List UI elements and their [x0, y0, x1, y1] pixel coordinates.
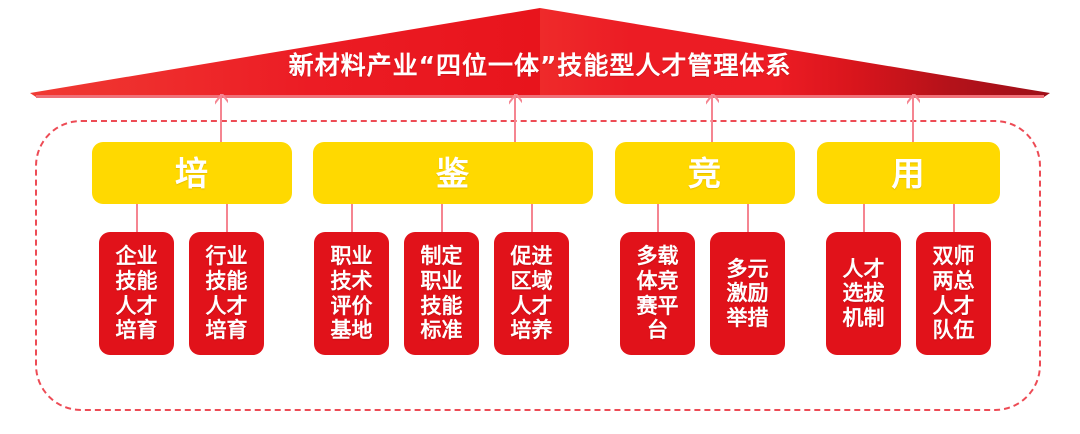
connector-line	[531, 204, 533, 232]
arrow-up-yong	[906, 94, 920, 142]
leaf-label: 企业 技能 人才 培育	[116, 244, 158, 342]
arrow-head-icon	[907, 94, 920, 105]
leaf-box-yong-1[interactable]: 人才 选拔 机制	[826, 232, 901, 355]
leaf-box-jian-3[interactable]: 促进 区域 人才 培养	[494, 232, 569, 355]
leaf-label: 促进 区域 人才 培养	[511, 244, 553, 342]
leaf-label: 行业 技能 人才 培育	[206, 244, 248, 342]
connector-line	[747, 204, 749, 232]
leaf-box-jing-1[interactable]: 多载 体竞 赛平 台	[620, 232, 695, 355]
leaf-box-jian-1[interactable]: 职业 技术 评价 基地	[314, 232, 389, 355]
leaf-label: 双师 两总 人才 队伍	[933, 244, 975, 342]
leaf-box-pei-2[interactable]: 行业 技能 人才 培育	[189, 232, 264, 355]
arrow-up-pei	[214, 94, 228, 142]
connector-line	[136, 204, 138, 232]
leaf-box-jing-2[interactable]: 多元 激励 举措	[710, 232, 785, 355]
diagram-canvas: 新材料产业“四位一体”技能型人才管理体系 培企业 技能 人才 培育行业 技能 人…	[0, 0, 1080, 434]
pillar-box-jing[interactable]: 竞	[615, 142, 795, 204]
leaf-box-jian-2[interactable]: 制定 职业 技能 标准	[404, 232, 479, 355]
leaf-label: 多载 体竞 赛平 台	[637, 244, 679, 342]
leaf-label: 制定 职业 技能 标准	[421, 244, 463, 342]
connector-line	[657, 204, 659, 232]
leaf-label: 职业 技术 评价 基地	[331, 244, 373, 342]
connector-line	[351, 204, 353, 232]
pillar-box-yong[interactable]: 用	[817, 142, 1000, 204]
pillar-label: 竞	[688, 157, 722, 190]
leaf-box-pei-1[interactable]: 企业 技能 人才 培育	[99, 232, 174, 355]
pillar-label: 用	[892, 157, 926, 190]
arrow-up-jian	[508, 94, 522, 142]
connector-line	[441, 204, 443, 232]
pillar-label: 鉴	[436, 157, 470, 190]
arrow-up-jing	[705, 94, 719, 142]
leaf-box-yong-2[interactable]: 双师 两总 人才 队伍	[916, 232, 991, 355]
connector-line	[863, 204, 865, 232]
arrow-head-icon	[706, 94, 719, 105]
connector-line	[953, 204, 955, 232]
leaf-label: 人才 选拔 机制	[843, 257, 885, 331]
pillar-box-jian[interactable]: 鉴	[313, 142, 593, 204]
connector-line	[226, 204, 228, 232]
pillar-box-pei[interactable]: 培	[92, 142, 292, 204]
leaf-label: 多元 激励 举措	[727, 257, 769, 331]
pillar-label: 培	[175, 157, 209, 190]
arrow-head-icon	[215, 94, 228, 105]
arrow-head-icon	[509, 94, 522, 105]
